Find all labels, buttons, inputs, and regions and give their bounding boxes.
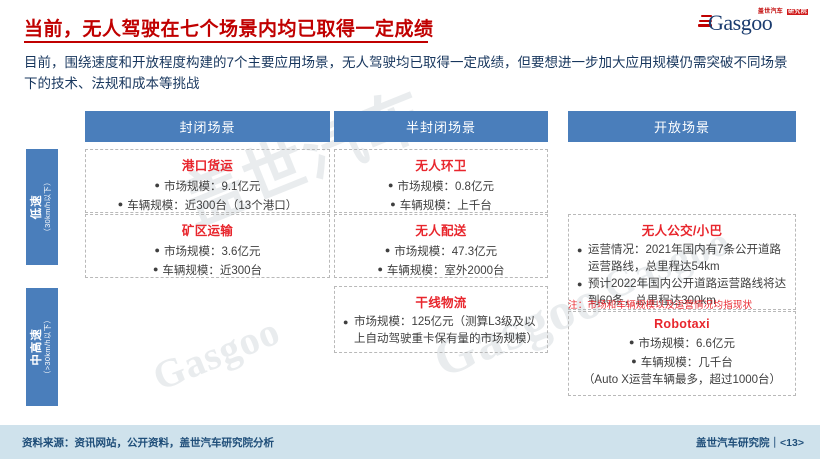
row-header-low-speed-range: （30km/h以下） — [44, 178, 53, 236]
scenario-card-robotaxi: Robotaxi ●市场规模：6.6亿元 ●车辆规模：几千台 （Auto X运营… — [568, 311, 796, 396]
bullet-icon: ● — [577, 242, 582, 259]
row-header-mid-high-speed-label: 中高速 — [31, 316, 44, 378]
card-bullet-list: ●市场规模：9.1亿元 ●车辆规模：近300台（13个港口） — [92, 177, 323, 215]
list-item-text: 市场规模：47.3亿元 — [394, 246, 497, 258]
page-title: 当前，无人驾驶在七个场景内均已取得一定成绩 — [24, 14, 434, 41]
card-footnote: （Auto X运营车辆最多，超过1000台） — [575, 372, 789, 389]
bullet-icon: ● — [390, 199, 395, 209]
card-title: Robotaxi — [575, 317, 789, 331]
logo-unit-cn: 研究院 — [787, 9, 808, 15]
list-item-text: 市场规模：125亿元（测算L3级及以上自动驾驶重卡保有量的市场规模） — [354, 316, 538, 345]
gasgoo-logo: 盖世汽车研究院 Gasgoo — [698, 6, 810, 36]
card-title: 矿区运输 — [92, 220, 323, 239]
list-item: ●市场规模：6.6亿元 — [575, 334, 789, 353]
card-bullet-list: ●市场规模：125亿元（测算L3级及以上自动驾驶重卡保有量的市场规模） — [341, 314, 541, 348]
list-item-text: 市场规模：3.6亿元 — [164, 246, 261, 258]
list-item-text: 车辆规模：近300台（13个港口） — [127, 200, 297, 212]
footer-source: 资料来源：资讯网站，公开资料，盖世汽车研究院分析 — [22, 435, 274, 450]
bullet-icon: ● — [153, 264, 158, 274]
card-bullet-list: ●市场规模：3.6亿元 ●车辆规模：近300台 — [92, 242, 323, 280]
scenario-card-port-freight: 港口货运 ●市场规模：9.1亿元 ●车辆规模：近300台（13个港口） — [85, 149, 330, 213]
card-title: 无人配送 — [341, 220, 541, 239]
list-item-text: 车辆规模：几千台 — [641, 357, 733, 369]
list-item: ●车辆规模：近300台 — [92, 261, 323, 280]
list-item: ●市场规模：125亿元（测算L3级及以上自动驾驶重卡保有量的市场规模） — [341, 314, 541, 348]
row-header-mid-high-speed-range: （>30km/h以下） — [44, 316, 53, 378]
list-item: ●市场规模：0.8亿元 — [341, 177, 541, 196]
bullet-icon: ● — [629, 337, 634, 347]
list-item-text: 市场规模：6.6亿元 — [638, 338, 735, 350]
list-item: ●车辆规模：几千台 — [575, 353, 789, 372]
card-title: 无人环卫 — [341, 155, 541, 174]
row-header-mid-high-speed: 中高速 （>30km/h以下） — [26, 288, 58, 406]
footer-institute-and-page: 盖世汽车研究院｜<13> — [696, 435, 804, 450]
card-bullet-list: ●市场规模：47.3亿元 ●车辆规模：室外2000台 — [341, 242, 541, 280]
scenario-card-unmanned-bus: 无人公交/小巴 ●运营情况：2021年国内有7条公开道路运营路线，总里程达54k… — [568, 214, 796, 310]
bullet-icon: ● — [388, 180, 393, 190]
column-header-open: 开放场景 — [568, 111, 796, 142]
bullet-icon: ● — [631, 356, 636, 366]
card-bullet-list: ●市场规模：0.8亿元 ●车辆规模：上千台 — [341, 177, 541, 215]
card-title: 港口货运 — [92, 155, 323, 174]
list-item-text: 运营情况：2021年国内有7条公开道路运营路线，总里程达54km — [588, 244, 781, 273]
list-item-text: 市场规模：9.1亿元 — [164, 181, 261, 193]
scenario-card-unmanned-sanitation: 无人环卫 ●市场规模：0.8亿元 ●车辆规模：上千台 — [334, 149, 548, 213]
list-item: ●市场规模：47.3亿元 — [341, 242, 541, 261]
card-title: 干线物流 — [341, 292, 541, 311]
list-item-text: 市场规模：0.8亿元 — [397, 181, 494, 193]
row-header-low-speed: 低速 （30km/h以下） — [26, 149, 58, 265]
logo-wordmark: Gasgoo — [708, 12, 772, 34]
list-item: ●市场规模：9.1亿元 — [92, 177, 323, 196]
slide-root: 盖世汽车 Gasgoo Gasgoo Gasgoo 当前，无人驾驶在七个场景内均… — [0, 0, 820, 459]
title-underline — [24, 41, 428, 43]
list-item-text: 车辆规模：近300台 — [162, 265, 262, 277]
bullet-icon: ● — [155, 180, 160, 190]
list-item-text: 车辆规模：上千台 — [400, 200, 492, 212]
scenario-card-trunk-logistics: 干线物流 ●市场规模：125亿元（测算L3级及以上自动驾驶重卡保有量的市场规模） — [334, 286, 548, 353]
bullet-icon: ● — [155, 245, 160, 255]
bullet-icon: ● — [577, 276, 582, 293]
bullet-icon: ● — [118, 199, 123, 209]
scenario-card-mine-transport: 矿区运输 ●市场规模：3.6亿元 ●车辆规模：近300台 — [85, 214, 330, 278]
list-item: ●车辆规模：上千台 — [341, 196, 541, 215]
footer-bar: 资料来源：资讯网站，公开资料，盖世汽车研究院分析 盖世汽车研究院｜<13> — [0, 425, 820, 459]
list-item: ●市场规模：3.6亿元 — [92, 242, 323, 261]
column-header-closed: 封闭场景 — [85, 111, 330, 142]
list-item-text: 车辆规模：室外2000台 — [387, 265, 505, 277]
scenario-matrix: 封闭场景 半封闭场景 开放场景 低速 （30km/h以下） 中高速 （>30km… — [0, 108, 820, 408]
bullet-icon: ● — [385, 245, 390, 255]
list-item: ●车辆规模：近300台（13个港口） — [92, 196, 323, 215]
list-item: ●车辆规模：室外2000台 — [341, 261, 541, 280]
table-note: 注：市场和车辆规模以及运营情况均指现状 — [568, 297, 752, 311]
page-subtitle: 目前，围绕速度和开放程度构建的7个主要应用场景，无人驾驶均已取得一定成绩，但要想… — [24, 52, 796, 94]
card-bullet-list: ●市场规模：6.6亿元 ●车辆规模：几千台 （Auto X运营车辆最多，超过10… — [575, 334, 789, 389]
card-title: 无人公交/小巴 — [575, 220, 789, 239]
list-item: ●运营情况：2021年国内有7条公开道路运营路线，总里程达54km — [575, 242, 789, 276]
scenario-card-unmanned-delivery: 无人配送 ●市场规模：47.3亿元 ●车辆规模：室外2000台 — [334, 214, 548, 278]
bullet-icon: ● — [377, 264, 382, 274]
column-header-semi-closed: 半封闭场景 — [334, 111, 548, 142]
bullet-icon: ● — [343, 314, 348, 331]
